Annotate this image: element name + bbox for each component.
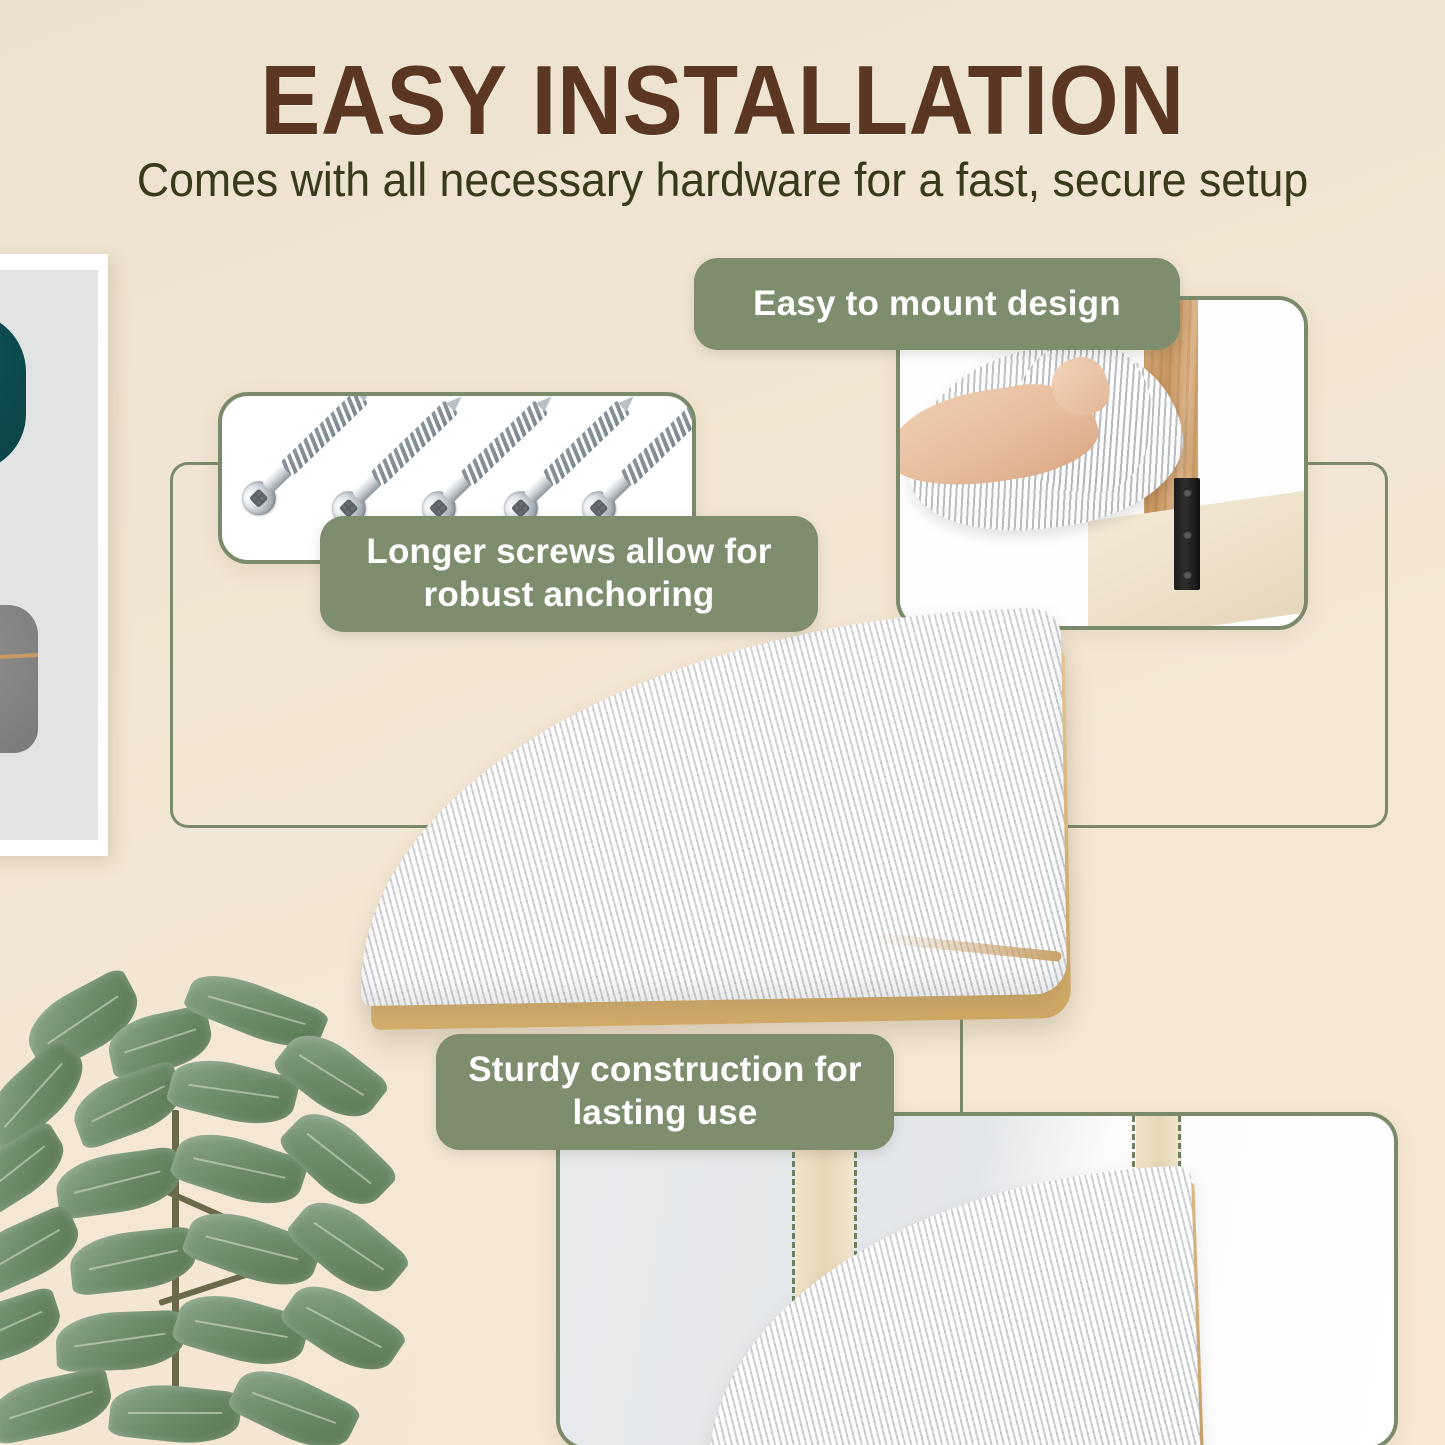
plant-leaf [53,1146,184,1221]
art-mat [0,270,98,840]
gray-stone-shape-icon [0,605,38,753]
plant-leaf [226,1356,363,1445]
plant-leaf [170,1283,312,1377]
plant-leaf [276,1098,400,1220]
bracket-hole [1183,530,1192,539]
wall-mounted-shelf-panel [556,1112,1398,1445]
screw-thread [369,400,458,487]
potted-plant [0,980,430,1445]
plant-leaf [0,1366,116,1445]
bracket-hole [1183,570,1192,579]
callout-longer-screws[interactable]: Longer screws allow for robust anchoring [320,516,818,632]
callout-easy-to-mount[interactable]: Easy to mount design [694,258,1180,350]
l-bracket-icon [1174,478,1200,590]
screw-thread [279,392,368,477]
corner-shelf-product [352,612,1082,1027]
screw-thread [541,400,630,487]
infographic-canvas: EASY INSTALLATION Comes with all necessa… [0,0,1445,1445]
page-subtitle: Comes with all necessary hardware for a … [36,152,1409,208]
callout-sturdy-construction[interactable]: Sturdy construction for lasting use [436,1034,894,1150]
plant-leaf [55,1310,185,1372]
screw-thread [619,400,696,487]
bracket-hole [1183,488,1192,497]
screw-thread [459,400,548,487]
page-title: EASY INSTALLATION [58,48,1387,152]
plant-leaf [107,1379,242,1445]
framed-wall-art [0,254,108,856]
teal-leaf-shape-icon [0,312,26,472]
